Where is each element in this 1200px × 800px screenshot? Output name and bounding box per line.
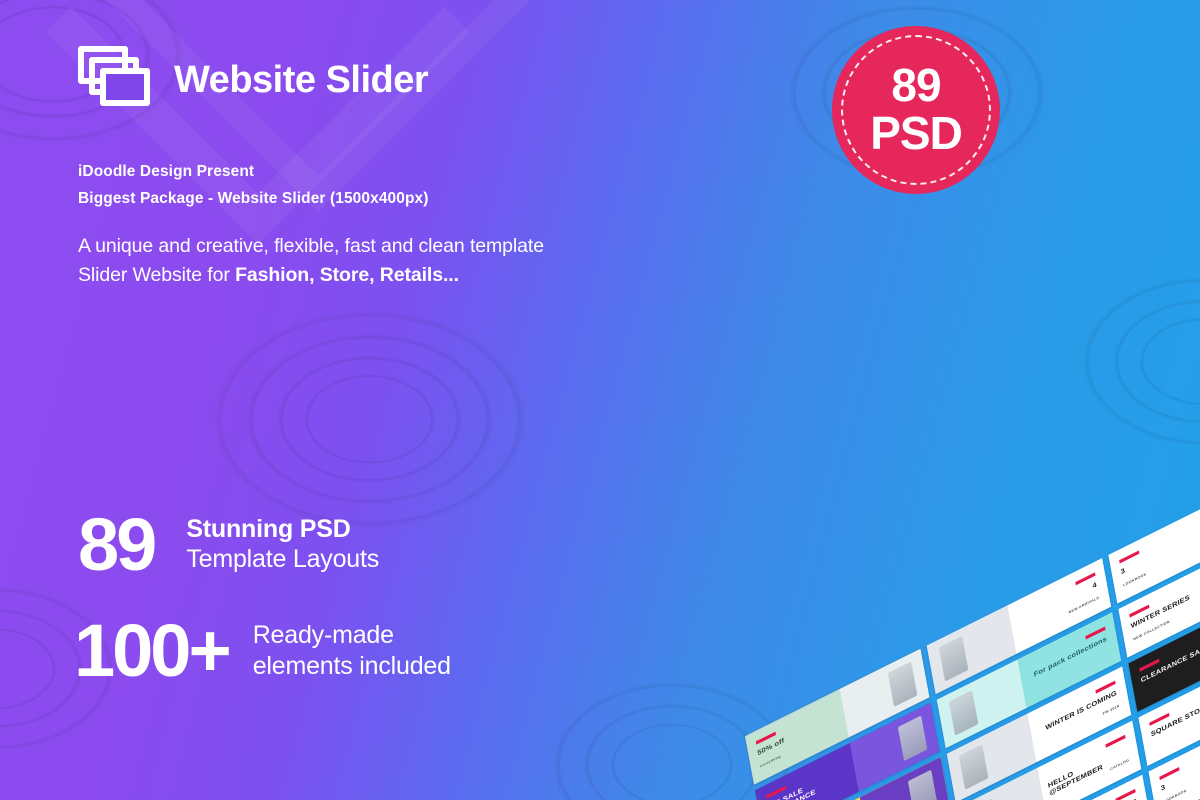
page-title: Website Slider <box>174 59 428 102</box>
intro-line-2: Biggest Package - Website Slider (1500x4… <box>78 185 429 212</box>
stat-templates-label-line1: Stunning PSD <box>186 514 379 544</box>
stat-elements: 100+ Ready-made elements included <box>74 618 451 683</box>
intro-block: iDoodle Design Present Biggest Package -… <box>78 158 429 212</box>
stat-elements-label-line2: elements included <box>253 651 451 682</box>
stat-elements-number: 100+ <box>74 618 229 683</box>
brand-header: Website Slider <box>78 46 428 114</box>
stat-templates: 89 Stunning PSD Template Layouts <box>78 512 379 577</box>
stat-templates-number: 89 <box>78 512 154 577</box>
stat-elements-label: Ready-made elements included <box>253 620 451 682</box>
intro-line-1: iDoodle Design Present <box>78 158 429 185</box>
badge-dashed-ring <box>841 35 991 185</box>
stat-templates-label-line2: Template Layouts <box>186 544 379 575</box>
tagline-categories: Fashion, Store, Retails... <box>235 264 459 286</box>
stat-templates-label: Stunning PSD Template Layouts <box>186 514 379 575</box>
stat-elements-label-line1: Ready-made <box>253 620 451 651</box>
psd-count-badge: 89 PSD <box>832 26 1000 194</box>
tagline-line-1: A unique and creative, flexible, fast an… <box>78 232 544 261</box>
tagline-block: A unique and creative, flexible, fast an… <box>78 232 544 290</box>
tagline-prefix: Slider Website for <box>78 264 235 286</box>
stacked-frames-icon <box>78 46 152 114</box>
tagline-line-2: Slider Website for Fashion, Store, Retai… <box>78 261 544 290</box>
poster-stage: 50% offeverything4NEW ARRIVALS3LOOKBOOK2… <box>0 0 1200 800</box>
